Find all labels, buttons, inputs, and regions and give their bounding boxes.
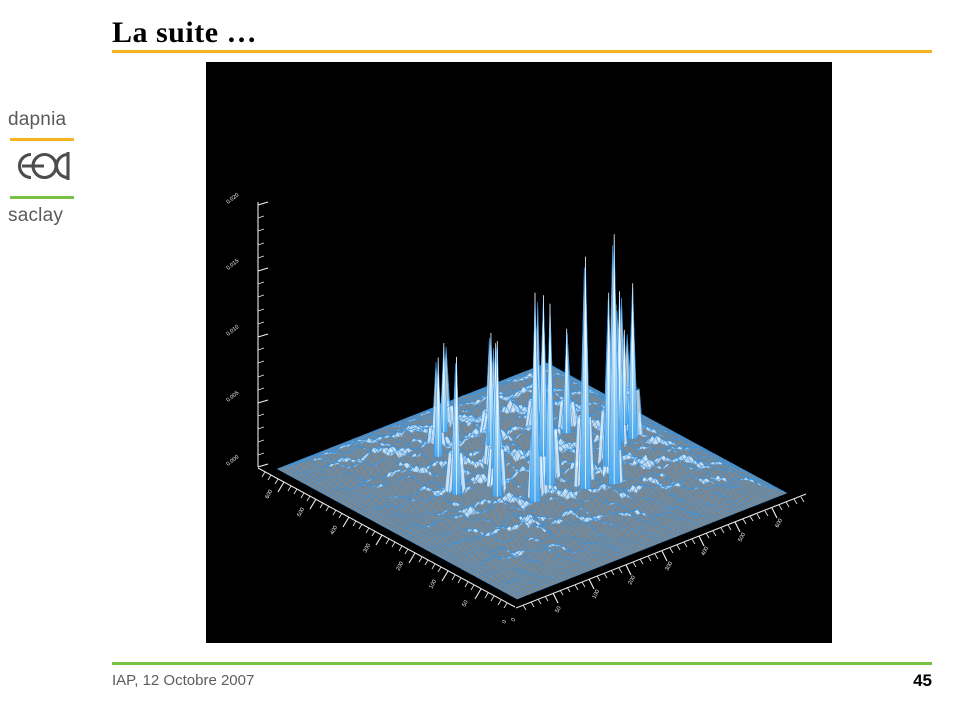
surface-plot-figure: 0.020 0.015 0.010 0.005 0.000 xyxy=(206,62,832,643)
footer-date: IAP, 12 Octobre 2007 xyxy=(112,672,254,689)
logo-divider-green xyxy=(10,196,74,199)
institution-logo: dapnia saclay xyxy=(8,110,94,225)
logo-divider-gold xyxy=(10,138,74,141)
title-divider xyxy=(112,50,932,53)
logo-label-saclay: saclay xyxy=(8,206,94,225)
presentation-slide: La suite … dapnia saclay xyxy=(0,0,960,720)
page-number: 45 xyxy=(913,671,932,691)
surface-plot-canvas: 0.020 0.015 0.010 0.005 0.000 xyxy=(206,62,832,643)
cea-logo-icon xyxy=(9,149,94,188)
page-title: La suite … xyxy=(112,16,257,50)
logo-label-dapnia: dapnia xyxy=(8,110,94,129)
footer-divider xyxy=(112,662,932,665)
